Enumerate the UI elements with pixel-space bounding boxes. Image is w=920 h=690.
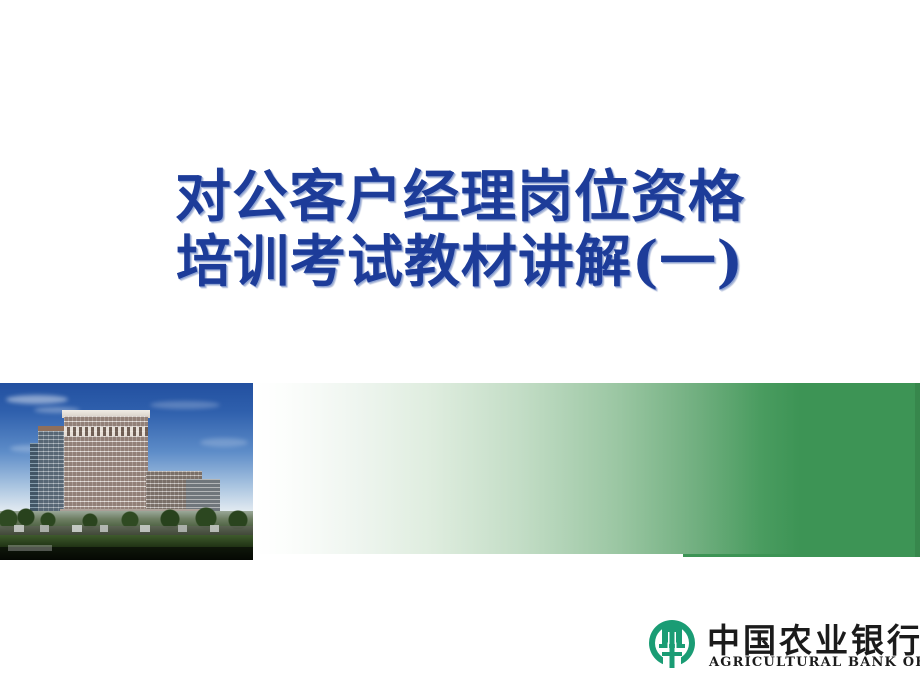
gradient-band-right-edge bbox=[915, 383, 920, 557]
agricultural-bank-of-china-emblem-icon bbox=[645, 616, 699, 670]
presentation-slide: 对公客户经理岗位资格 培训考试教材讲解(一) bbox=[0, 0, 920, 690]
gradient-band-step bbox=[683, 554, 920, 557]
title-line-2: 培训考试教材讲解(一) bbox=[0, 233, 920, 292]
building-photo bbox=[0, 383, 253, 560]
photo-cloud bbox=[200, 438, 248, 447]
bank-logo: 中国农业银行 AGRICULTURAL BANK OF CHINA bbox=[645, 612, 907, 678]
bank-name-english: AGRICULTURAL BANK OF CHINA bbox=[709, 655, 920, 670]
photo-cars bbox=[0, 525, 253, 532]
page-title: 对公客户经理岗位资格 培训考试教材讲解(一) bbox=[0, 168, 920, 293]
photo-cloud bbox=[6, 395, 68, 404]
photo-watermark bbox=[8, 545, 52, 551]
photo-cloud bbox=[150, 401, 220, 409]
title-line-1: 对公客户经理岗位资格 bbox=[0, 168, 920, 227]
photo-building-main-arcade bbox=[64, 427, 148, 436]
